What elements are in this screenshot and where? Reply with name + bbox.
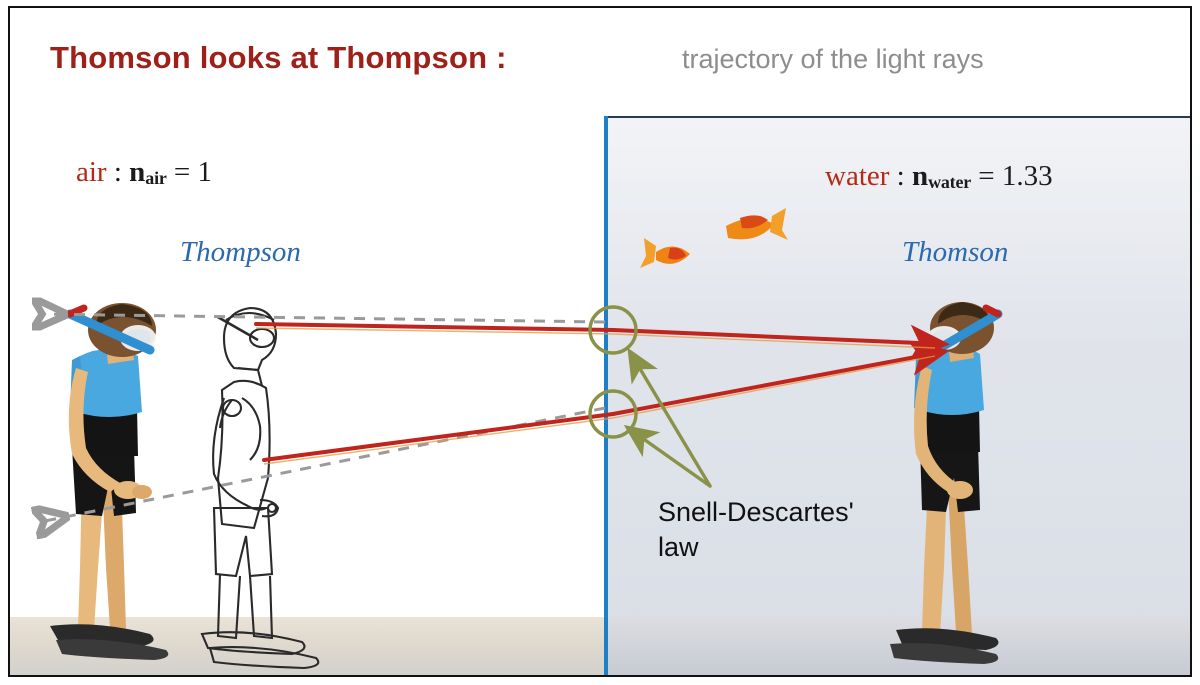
diver-thomson xyxy=(890,302,998,664)
fish-icon-2 xyxy=(726,208,788,240)
slide-canvas: Thomson looks at Thompson : trajectory o… xyxy=(0,0,1200,685)
slide-frame: Thomson looks at Thompson : trajectory o… xyxy=(8,6,1192,677)
fish-group xyxy=(640,208,788,268)
diver-head-right xyxy=(927,302,998,354)
refracted-ray-upper xyxy=(613,330,942,344)
diver-thompson-virtual-sketch xyxy=(202,308,318,668)
snell-arrow-to-upper-point xyxy=(630,352,710,486)
incident-ray-lower xyxy=(264,414,613,460)
optics-overlay xyxy=(10,8,1192,677)
ray-halo xyxy=(256,328,935,464)
diver-head-left xyxy=(70,303,156,357)
snell-arrow-to-lower-point xyxy=(628,428,710,486)
diver-thompson-real xyxy=(50,303,168,660)
fish-icon-1 xyxy=(640,238,690,268)
snell-callout-arrows xyxy=(628,352,710,486)
